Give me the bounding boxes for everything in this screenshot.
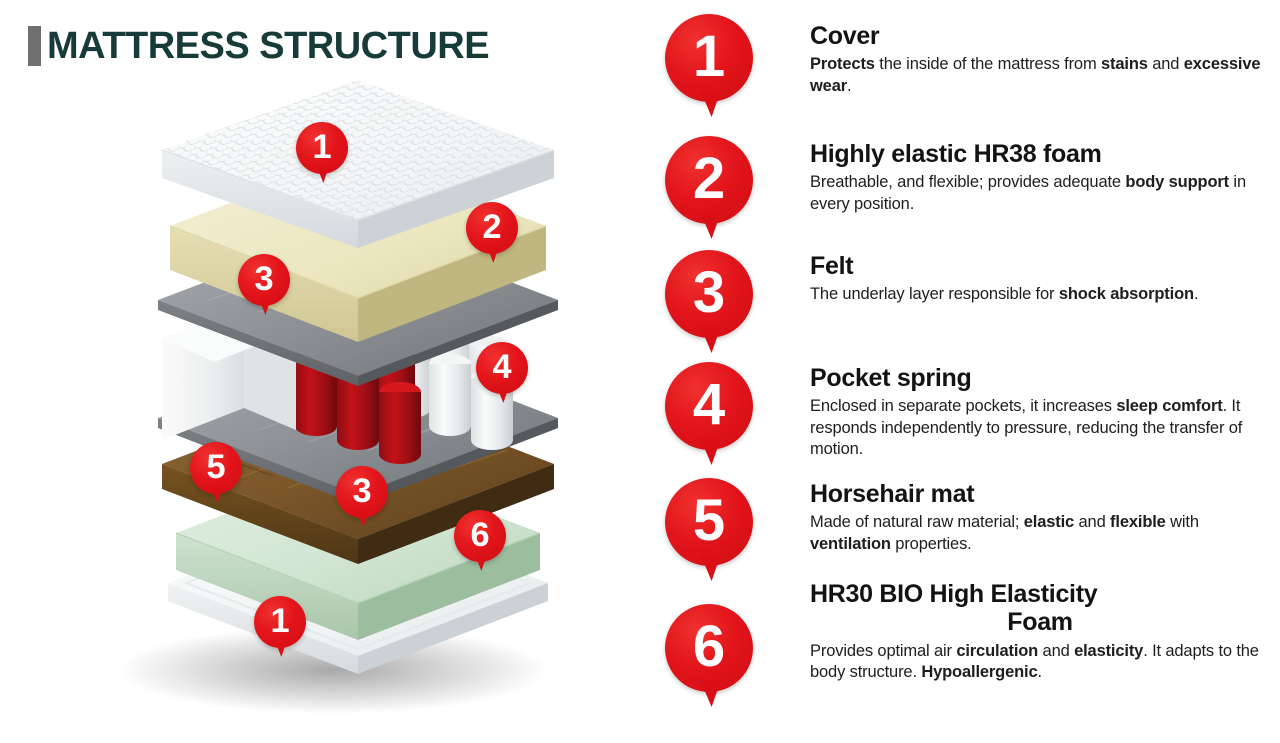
legend-text-4: Pocket spring Enclosed in separate pocke… xyxy=(810,364,1270,461)
legend-title-2: Highly elastic HR38 foam xyxy=(810,140,1270,168)
legend-title-5: Horsehair mat xyxy=(810,480,1270,508)
legend-desc-5: Made of natural raw material; elastic an… xyxy=(810,512,1270,555)
legend-text-2: Highly elastic HR38 foam Breathable, and… xyxy=(810,140,1270,215)
legend-title-3: Felt xyxy=(810,252,1270,280)
illustration-callout-1-bottom[interactable]: 1 xyxy=(254,596,306,648)
legend-desc-3: The underlay layer responsible for shock… xyxy=(810,284,1270,305)
legend-title-6: HR30 BIO High Elasticity Foam xyxy=(810,580,1270,637)
pin-number: 1 xyxy=(296,122,348,174)
legend-title-6-line2: Foam xyxy=(810,608,1270,636)
illustration-callout-5[interactable]: 5 xyxy=(190,442,242,494)
pin-number: 5 xyxy=(665,478,753,566)
legend-text-6: HR30 BIO High Elasticity Foam Provides o… xyxy=(810,580,1270,683)
pin-number: 3 xyxy=(665,250,753,338)
illustration-callout-4[interactable]: 4 xyxy=(476,342,528,394)
legend-desc-1: Protects the inside of the mattress from… xyxy=(810,54,1270,97)
illustration-callout-3-lower[interactable]: 3 xyxy=(336,466,388,518)
page-title: MATTRESS STRUCTURE xyxy=(28,26,489,66)
mattress-exploded-illustration: 1 2 3 4 5 3 6 1 xyxy=(58,78,658,728)
legend-title-1: Cover xyxy=(810,22,1270,50)
pin-number: 3 xyxy=(238,254,290,306)
pin-number: 6 xyxy=(665,604,753,692)
pin-number: 2 xyxy=(665,136,753,224)
pin-number: 1 xyxy=(254,596,306,648)
pin-number: 5 xyxy=(190,442,242,494)
pin-number: 4 xyxy=(665,362,753,450)
pin-number: 2 xyxy=(466,202,518,254)
legend-text-5: Horsehair mat Made of natural raw materi… xyxy=(810,480,1270,555)
illustration-callout-6[interactable]: 6 xyxy=(454,510,506,562)
legend-pin-2[interactable]: 2 xyxy=(665,136,753,224)
legend-text-1: Cover Protects the inside of the mattres… xyxy=(810,22,1270,97)
legend-pin-1[interactable]: 1 xyxy=(665,14,753,102)
legend-title-4: Pocket spring xyxy=(810,364,1270,392)
legend-title-6-line1: HR30 BIO High Elasticity xyxy=(810,580,1097,608)
illustration-callout-3-upper[interactable]: 3 xyxy=(238,254,290,306)
legend-text-3: Felt The underlay layer responsible for … xyxy=(810,252,1270,306)
legend-pin-6[interactable]: 6 xyxy=(665,604,753,692)
mattress-layers-svg xyxy=(58,78,658,728)
title-accent-bar xyxy=(28,26,41,66)
legend-pin-3[interactable]: 3 xyxy=(665,250,753,338)
illustration-callout-1-top[interactable]: 1 xyxy=(296,122,348,174)
layer-legend-list: 1 Cover Protects the inside of the mattr… xyxy=(655,0,1280,743)
legend-desc-6: Provides optimal air circulation and ela… xyxy=(810,641,1270,684)
title-label: MATTRESS STRUCTURE xyxy=(47,27,489,65)
pin-number: 3 xyxy=(336,466,388,518)
legend-desc-2: Breathable, and flexible; provides adequ… xyxy=(810,172,1270,215)
illustration-callout-2[interactable]: 2 xyxy=(466,202,518,254)
legend-pin-5[interactable]: 5 xyxy=(665,478,753,566)
pin-number: 4 xyxy=(476,342,528,394)
pin-number: 6 xyxy=(454,510,506,562)
legend-desc-4: Enclosed in separate pockets, it increas… xyxy=(810,396,1270,460)
legend-pin-4[interactable]: 4 xyxy=(665,362,753,450)
pin-number: 1 xyxy=(665,14,753,102)
